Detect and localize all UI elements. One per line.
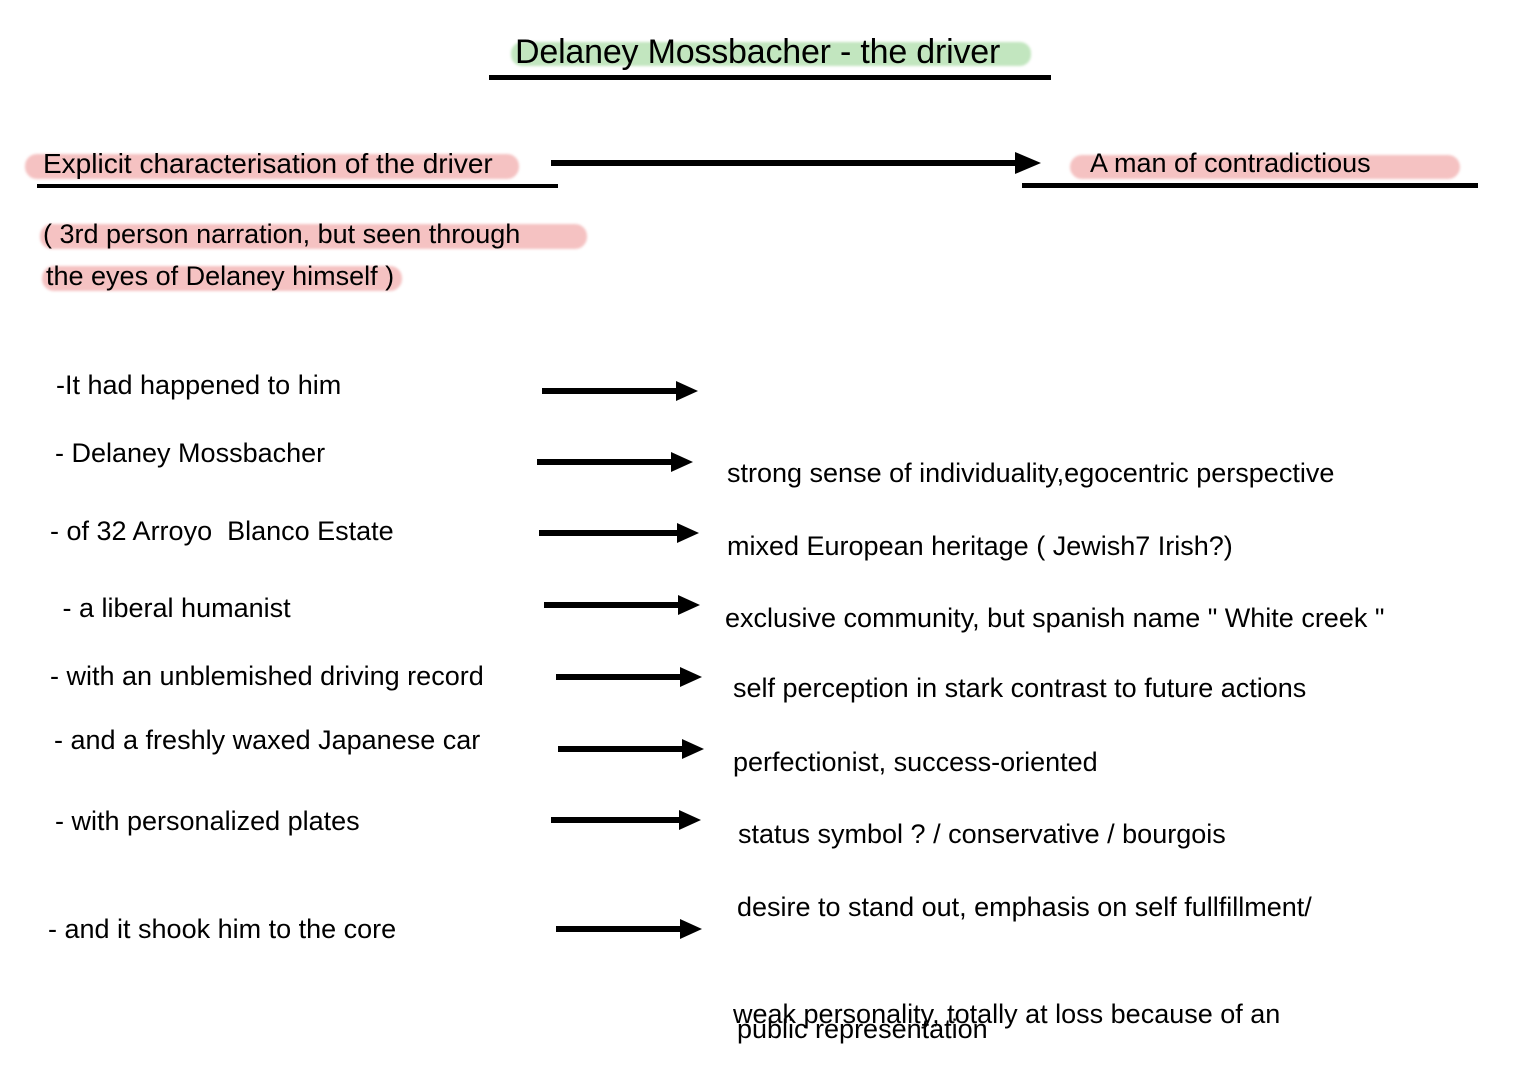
quote-text: -It had happened to him: [56, 370, 341, 401]
note-line-2: the eyes of Delaney himself ): [46, 261, 394, 292]
left-heading: Explicit characterisation of the driver: [25, 148, 535, 196]
arrow-head-icon: [678, 595, 700, 615]
arrow-head-icon: [682, 739, 704, 759]
arrow-shaft: [537, 459, 673, 465]
note-line-1: ( 3rd person narration, but seen through: [43, 219, 520, 250]
arrow-shaft: [544, 602, 680, 608]
right-heading: A man of contradictious: [1022, 148, 1480, 196]
arrow-shaft: [551, 817, 681, 823]
quote-text: - Delaney Mossbacher: [55, 438, 325, 469]
arrow-shaft: [558, 746, 684, 752]
narration-note: ( 3rd person narration, but seen through…: [38, 219, 598, 303]
arrow-head-icon: [679, 810, 701, 830]
quote-text: - of 32 Arroyo Blanco Estate: [50, 516, 394, 547]
quote-text: - with personalized plates: [55, 806, 360, 837]
right-heading-underline: [1022, 183, 1478, 188]
quote-text: - and it shook him to the core: [48, 914, 396, 945]
row-arrow: [558, 739, 704, 759]
row-arrow: [556, 667, 702, 687]
title-underline: [489, 75, 1051, 80]
notes-page: Delaney Mossbacher - the driver Explicit…: [0, 0, 1526, 1080]
analysis-text: weak personality, totally at loss becaus…: [733, 913, 1280, 1080]
row-arrow: [551, 810, 701, 830]
analysis-line-1: weak personality, totally at loss becaus…: [733, 994, 1280, 1035]
quote-text: - with an unblemished driving record: [50, 661, 484, 692]
left-heading-underline: [37, 184, 558, 188]
arrow-shaft: [556, 674, 682, 680]
quote-text: - and a freshly waxed Japanese car: [54, 725, 480, 756]
left-heading-text: Explicit characterisation of the driver: [43, 148, 493, 180]
arrow-shaft: [542, 388, 678, 394]
arrow-shaft: [539, 530, 679, 536]
heading-connector-arrow: [551, 152, 1041, 174]
arrow-head-icon: [676, 381, 698, 401]
arrow-shaft: [556, 926, 682, 932]
arrow-shaft: [551, 160, 1017, 166]
arrow-head-icon: [680, 667, 702, 687]
title-text: Delaney Mossbacher - the driver: [515, 33, 1000, 72]
row-arrow: [539, 523, 699, 543]
row-arrow: [544, 595, 700, 615]
row-arrow: [556, 919, 702, 939]
right-heading-text: A man of contradictious: [1090, 148, 1371, 179]
quote-text: - a liberal humanist: [55, 593, 291, 624]
row-arrow: [542, 381, 698, 401]
row-arrow: [537, 452, 693, 472]
arrow-head-icon: [680, 919, 702, 939]
arrow-head-icon: [677, 523, 699, 543]
page-title: Delaney Mossbacher - the driver: [489, 33, 1051, 83]
arrow-head-icon: [671, 452, 693, 472]
